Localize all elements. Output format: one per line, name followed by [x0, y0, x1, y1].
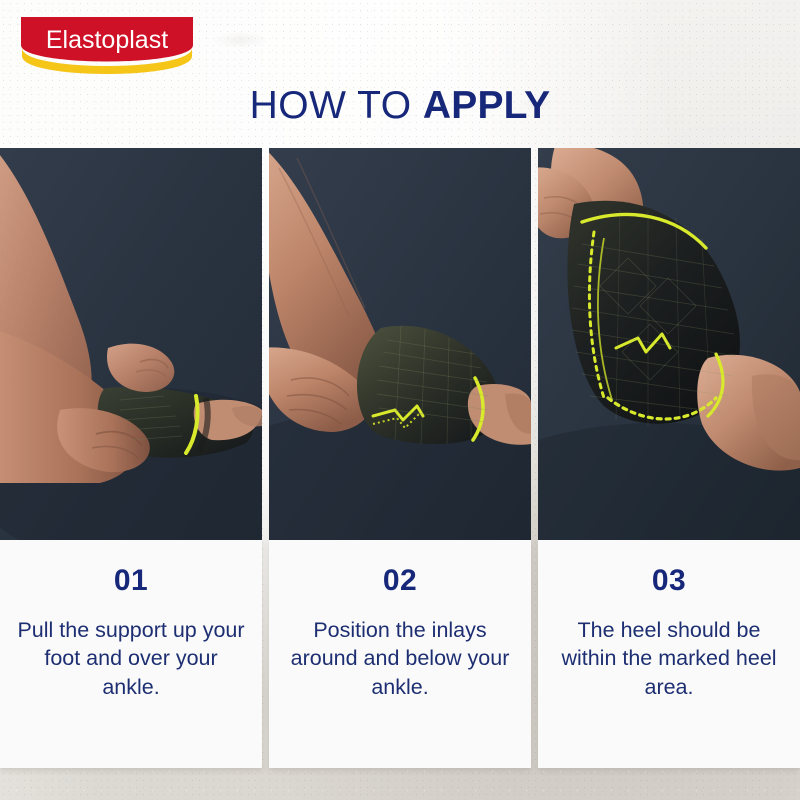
step-text-03: The heel should be within the marked hee… [548, 616, 790, 701]
step-text-02: Position the inlays around and below you… [279, 616, 521, 701]
step-photo-03 [538, 148, 800, 540]
step-photo-02 [269, 148, 531, 540]
steps-container: 01 Pull the support up your foot and ove… [0, 148, 800, 768]
page-title: HOW TO APPLY [0, 86, 800, 125]
logo-wordmark: Elastoplast [46, 26, 168, 54]
elastoplast-logo: Elastoplast [18, 14, 196, 76]
step-card-01: 01 Pull the support up your foot and ove… [0, 148, 262, 768]
page-title-bold: APPLY [423, 84, 550, 127]
step-photo-01 [0, 148, 262, 540]
step-text-01: Pull the support up your foot and over y… [10, 616, 252, 701]
step-caption-01: 01 Pull the support up your foot and ove… [0, 540, 262, 768]
page-background: Elastoplast HOW TO APPLY [0, 0, 800, 800]
page-title-light: HOW TO [250, 84, 412, 127]
step-number-03: 03 [548, 566, 790, 596]
step-number-02: 02 [279, 566, 521, 596]
step-caption-02: 02 Position the inlays around and below … [269, 540, 531, 768]
step-caption-03: 03 The heel should be within the marked … [538, 540, 800, 768]
step-number-01: 01 [10, 566, 252, 596]
step-card-03: 03 The heel should be within the marked … [538, 148, 800, 768]
step-card-02: 02 Position the inlays around and below … [269, 148, 531, 768]
